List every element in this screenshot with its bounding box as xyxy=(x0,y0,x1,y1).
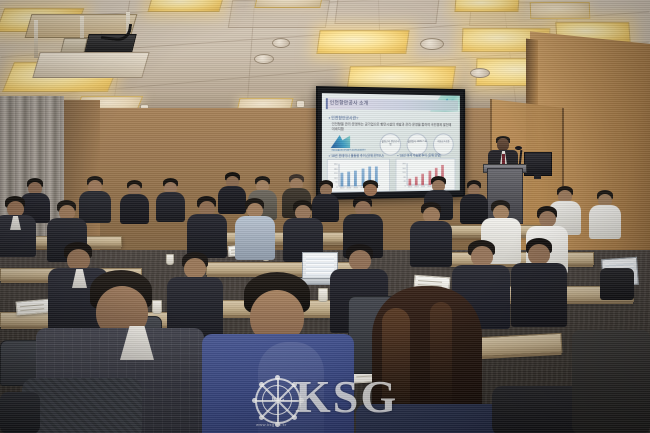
port-authority-mark-icon xyxy=(331,135,350,148)
chart-x-tick: 2015 xyxy=(352,187,359,189)
ceiling-light-panel xyxy=(454,0,519,12)
chart-y-tick: 0 xyxy=(405,186,406,188)
ceiling-light-panel xyxy=(147,0,224,12)
microphone-head xyxy=(515,146,522,150)
slide-chart-caption: ▪ '18년 컨테이너 물동량 추이 (단위:만TEU) xyxy=(329,153,384,158)
projector-lift-post xyxy=(34,20,38,58)
incheon-port-authority-logo: INCHEON PORT AUTHORITY xyxy=(331,135,369,153)
chart-y-tick: 140 xyxy=(334,178,338,180)
monitor-stand xyxy=(534,174,541,179)
chart-bar xyxy=(354,171,357,186)
ceiling-light-panel xyxy=(530,2,591,19)
chart-y-tick: 80 xyxy=(403,177,405,179)
slide-bullet-head: ▪ 인천항만공사란? xyxy=(329,115,359,121)
conference-table xyxy=(214,232,346,243)
slide-chart-caption: ▪ '18년 여객 수송량 추이 (단위:만명) xyxy=(397,153,441,158)
chart-y-axis xyxy=(339,164,340,187)
chart-y-tick: 280 xyxy=(334,168,338,170)
chart-y-tick: 70 xyxy=(335,182,337,184)
conference-chair[interactable] xyxy=(0,392,40,433)
smoke-detector-icon xyxy=(254,54,274,64)
chart-x-tick: 2014 xyxy=(413,186,420,188)
ceiling-projector xyxy=(28,8,146,80)
chart-y-tick: 40 xyxy=(403,181,405,183)
chart-y-tick: 350 xyxy=(334,164,338,166)
smoke-detector-icon xyxy=(470,68,490,78)
slide-circle-1-label: 설립근거 항만공사법 xyxy=(381,140,401,147)
slide-bullet-body: 인천항을 관리·운영하는 공기업으로 항만시설의 개발과 관리·운영을 통하여 … xyxy=(332,122,453,133)
floor-bag xyxy=(600,268,634,300)
smoke-detector-icon xyxy=(272,38,290,48)
chart-bar xyxy=(347,171,350,186)
conference-chair[interactable] xyxy=(572,330,650,433)
chart-y-tick: 160 xyxy=(402,168,405,170)
chart-bar xyxy=(415,177,418,186)
screenshot-root: 인천항만공사 소개 ▪ 인천항만공사란? 인천항을 관리·운영하는 공기업으로 … xyxy=(0,0,650,433)
chart-y-tick: 120 xyxy=(402,172,405,174)
conference-chair[interactable] xyxy=(22,378,142,433)
projector-lift-plate xyxy=(32,52,149,78)
chart-y-axis xyxy=(407,163,408,185)
confidence-monitor xyxy=(524,152,552,176)
floor-bag xyxy=(492,386,582,433)
slide-chart-container: ▪ '18년 컨테이너 물동량 추이 (단위:만TEU) 20132014201… xyxy=(327,159,390,193)
ceiling-tile xyxy=(334,0,439,24)
slide-circle-3-label: 자본금 1조원 xyxy=(434,140,453,143)
chart-y-tick: 210 xyxy=(334,173,338,175)
chart-y-tick: 0 xyxy=(336,187,337,189)
chart-y-tick: 200 xyxy=(402,163,405,165)
ceiling-light-panel xyxy=(316,30,409,54)
paper-cup xyxy=(318,288,328,302)
org-logo-text: INCHEON PORT AUTHORITY xyxy=(332,149,366,152)
chart-bar xyxy=(340,173,343,187)
paper-cup xyxy=(152,300,162,314)
laptop-screen-content xyxy=(306,256,334,276)
slide-chart-container: ▪ '18년 여객 수송량 추이 (단위:만명) 201320142015201… xyxy=(396,158,456,191)
chart-x-tick: 2013 xyxy=(339,187,346,189)
chart-x-tick: 2014 xyxy=(345,187,352,189)
paper-cup xyxy=(166,254,174,265)
sprinkler-head-icon xyxy=(296,100,305,108)
smoke-detector-icon xyxy=(420,38,444,50)
slide-circle-2-label: 설립일자 2005.7.11 xyxy=(408,140,427,143)
chart-bar xyxy=(408,179,411,185)
chart-bar xyxy=(422,174,425,186)
ceiling-light-panel xyxy=(254,0,323,8)
slide-title: 인천항만공사 소개 xyxy=(330,99,369,107)
